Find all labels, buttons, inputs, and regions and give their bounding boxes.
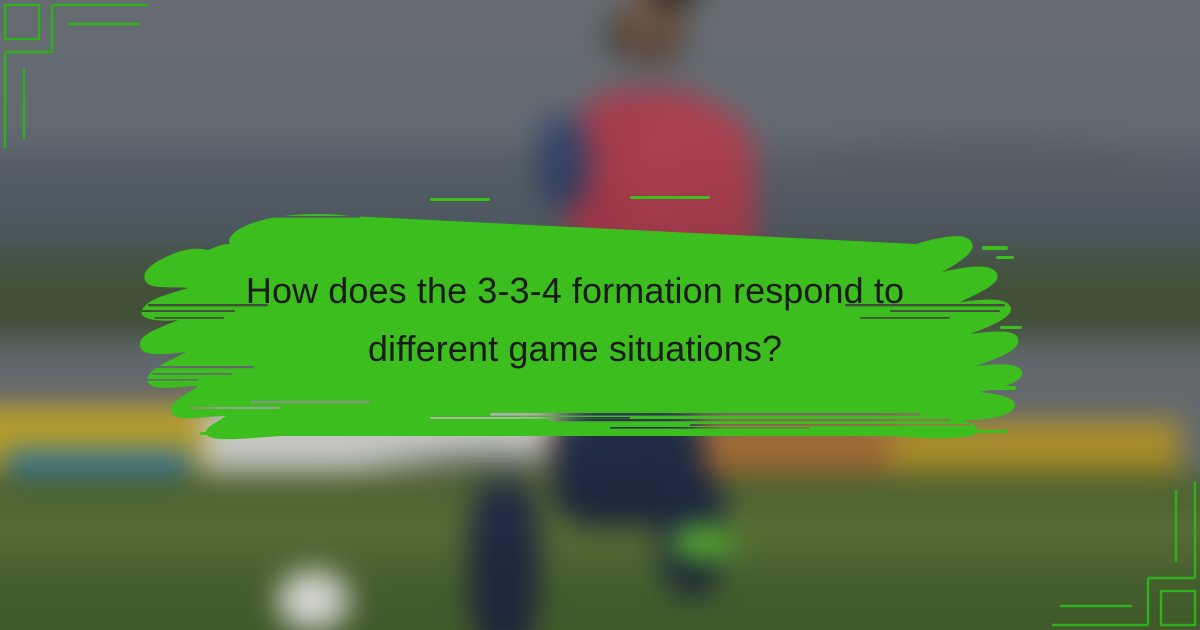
social-card: How does the 3-3-4 formation respond to … — [0, 0, 1200, 630]
headline-text: How does the 3-3-4 formation respond to … — [195, 262, 955, 378]
